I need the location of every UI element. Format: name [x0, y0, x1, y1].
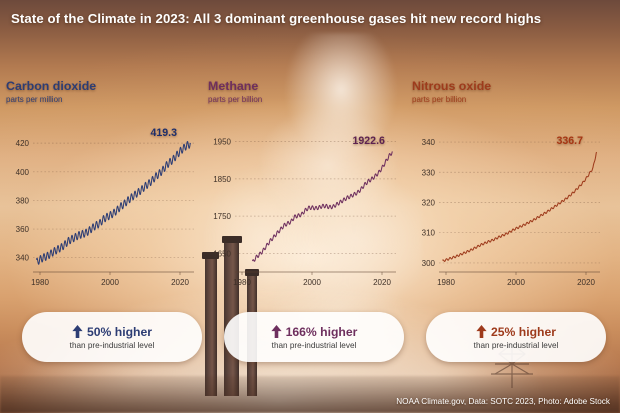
svg-text:2020: 2020 [171, 278, 189, 287]
callout-co2: 50% higher than pre-industrial level [22, 312, 202, 362]
svg-text:300: 300 [422, 259, 436, 268]
svg-text:420: 420 [16, 139, 30, 148]
callouts-row: 50% higher than pre-industrial level 166… [0, 312, 620, 370]
svg-text:2000: 2000 [507, 278, 525, 287]
charts-row: Carbon dioxide parts per million 3403603… [0, 80, 620, 300]
callout-ch4: 166% higher than pre-industrial level [224, 312, 404, 362]
svg-text:360: 360 [16, 225, 30, 234]
up-arrow-icon [476, 325, 487, 338]
callout-co2-main-row: 50% higher [72, 325, 152, 339]
svg-text:1650: 1650 [213, 249, 231, 258]
svg-text:1980: 1980 [437, 278, 455, 287]
svg-text:330: 330 [422, 168, 436, 177]
svg-text:400: 400 [16, 168, 30, 177]
callout-n2o-value: 25% higher [491, 325, 556, 339]
chart-units-co2: parts per million [6, 95, 200, 104]
svg-text:1980: 1980 [31, 278, 49, 287]
chart-title-co2: Carbon dioxide [6, 80, 200, 93]
chart-title-ch4: Methane [208, 80, 402, 93]
callout-ch4-caption: than pre-industrial level [272, 341, 357, 350]
chart-panel-methane: Methane parts per billion 16501750185019… [208, 80, 402, 298]
data-annotation-ch4: 1922.6 [353, 135, 385, 147]
chart-title-n2o: Nitrous oxide [412, 80, 606, 93]
infographic-canvas: State of the Climate in 2023: All 3 domi… [0, 0, 620, 413]
source-credit: NOAA Climate.gov, Data: SOTC 2023, Photo… [396, 397, 610, 406]
callout-ch4-value: 166% higher [286, 325, 358, 339]
chart-units-ch4: parts per billion [208, 95, 402, 104]
page-title: State of the Climate in 2023: All 3 domi… [11, 11, 609, 27]
callout-ch4-main-row: 166% higher [271, 325, 358, 339]
callout-n2o-caption: than pre-industrial level [474, 341, 559, 350]
chart-units-n2o: parts per billion [412, 95, 606, 104]
data-annotation-co2: 419.3 [151, 127, 178, 139]
svg-text:380: 380 [16, 196, 30, 205]
plot-area-n2o: 300310320330340198020002020 336.7 [412, 122, 606, 298]
svg-text:320: 320 [422, 198, 436, 207]
svg-text:1850: 1850 [213, 175, 231, 184]
svg-text:340: 340 [16, 254, 30, 263]
callout-n2o: 25% higher than pre-industrial level [426, 312, 606, 362]
chart-panel-nitrous-oxide: Nitrous oxide parts per billion 30031032… [412, 80, 606, 298]
svg-text:2020: 2020 [577, 278, 595, 287]
svg-text:1950: 1950 [213, 138, 231, 147]
up-arrow-icon [72, 325, 83, 338]
svg-text:2000: 2000 [303, 278, 321, 287]
svg-text:1980: 1980 [233, 278, 251, 287]
callout-n2o-main-row: 25% higher [476, 325, 556, 339]
up-arrow-icon [271, 325, 282, 338]
line-chart-n2o: 300310320330340198020002020 [412, 122, 606, 298]
svg-text:2000: 2000 [101, 278, 119, 287]
data-annotation-n2o: 336.7 [557, 135, 584, 147]
line-chart-ch4: 1650175018501950198020002020 [208, 122, 402, 298]
callout-co2-value: 50% higher [87, 325, 152, 339]
svg-text:1750: 1750 [213, 212, 231, 221]
svg-text:2020: 2020 [373, 278, 391, 287]
svg-text:340: 340 [422, 138, 436, 147]
line-chart-co2: 340360380400420198020002020 [6, 122, 200, 298]
plot-area-ch4: 1650175018501950198020002020 1922.6 [208, 122, 402, 298]
plot-area-co2: 340360380400420198020002020 419.3 [6, 122, 200, 298]
chart-panel-carbon-dioxide: Carbon dioxide parts per million 3403603… [6, 80, 200, 298]
svg-text:310: 310 [422, 229, 436, 238]
callout-co2-caption: than pre-industrial level [70, 341, 155, 350]
ground-shadow [0, 376, 620, 413]
